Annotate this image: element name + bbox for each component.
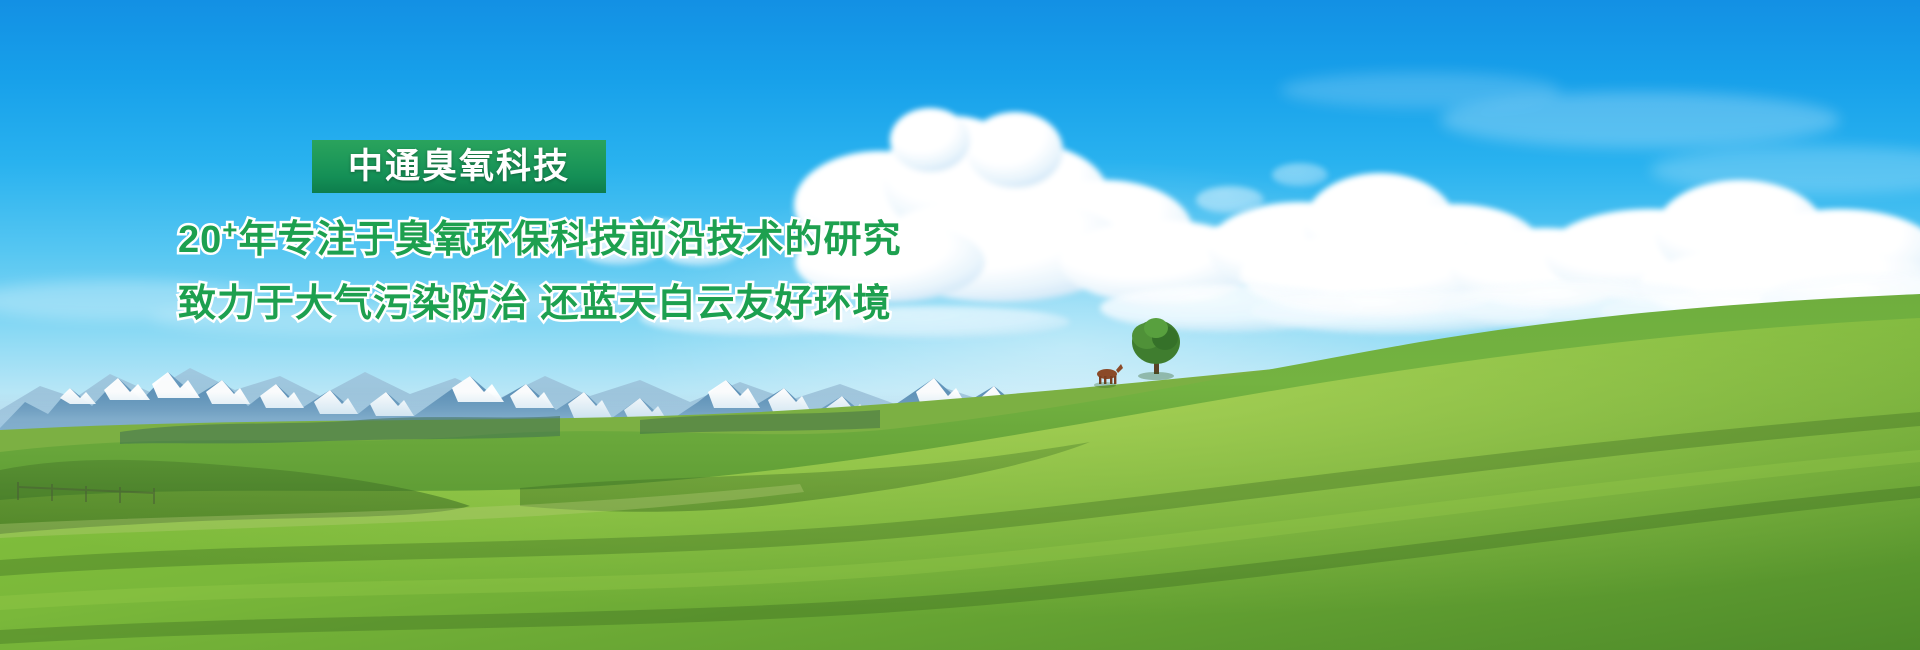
subtitle-1-text: 年专注于臭氧环保科技前沿技术的研究 bbox=[238, 219, 901, 261]
subtitle-line-1: 20+年专注于臭氧环保科技前沿技术的研究 bbox=[178, 208, 901, 263]
subtitle-line-2: 致力于大气污染防治 还蓝天白云友好环境 bbox=[178, 272, 892, 327]
headline-box: 中通臭氧科技 bbox=[312, 140, 606, 193]
tree-icon bbox=[1132, 318, 1180, 380]
headline-text: 中通臭氧科技 bbox=[348, 149, 570, 184]
hero-banner: 中通臭氧科技 20+年专注于臭氧环保科技前沿技术的研究 致力于大气污染防治 还蓝… bbox=[0, 0, 1920, 650]
subtitle-2-text: 致力于大气污染防治 还蓝天白云友好环境 bbox=[178, 283, 892, 325]
subtitle-1-superscript: + bbox=[222, 214, 238, 244]
subtitle-1-prefix: 20 bbox=[178, 219, 222, 261]
